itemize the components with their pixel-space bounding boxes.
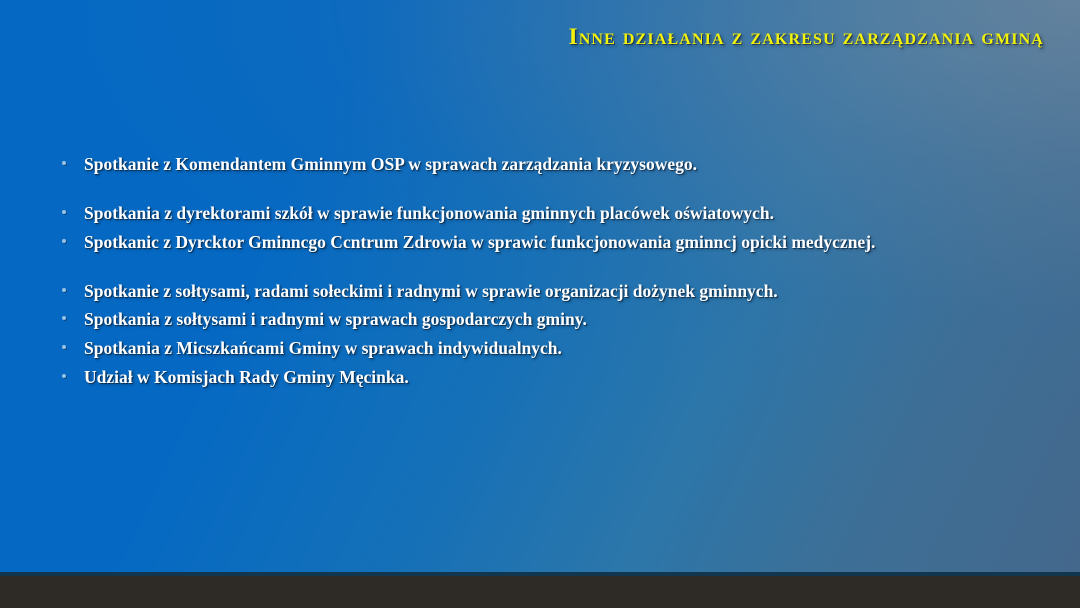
list-item: Spotkania z Micszkańcami Gminy w sprawac… (58, 336, 1018, 361)
bullet-marker-icon (62, 288, 66, 292)
bullet-group-2: Spotkania z dyrektorami szkół w sprawie … (58, 201, 1018, 255)
list-item-text: Spotkania z Micszkańcami Gminy w sprawac… (84, 338, 562, 358)
list-item-text: Spotkanic z Dyrcktor Gminncgo Ccntrum Zd… (84, 232, 875, 252)
list-item: Spotkanic z Dyrcktor Gminncgo Ccntrum Zd… (58, 230, 1018, 255)
bullet-marker-icon (62, 316, 66, 320)
bullet-group-1: Spotkanie z Komendantem Gminnym OSP w sp… (58, 152, 1018, 177)
list-item-text: Spotkanie z sołtysami, radami sołeckimi … (84, 281, 778, 301)
list-item: Spotkania z dyrektorami szkół w sprawie … (58, 201, 1018, 226)
presentation-slide: Inne działania z zakresu zarządzania gmi… (0, 0, 1080, 608)
list-item: Spotkania z sołtysami i radnymi w sprawa… (58, 307, 1018, 332)
list-item-text: Spotkania z dyrektorami szkół w sprawie … (84, 203, 774, 223)
slide-canvas: Inne działania z zakresu zarządzania gmi… (0, 0, 1080, 575)
list-item-text: Spotkania z sołtysami i radnymi w sprawa… (84, 309, 587, 329)
bullet-marker-icon (62, 239, 66, 243)
bullet-group-3: Spotkanie z sołtysami, radami sołeckimi … (58, 279, 1018, 390)
viewer-bottom-bar (0, 576, 1080, 608)
bullet-marker-icon (62, 345, 66, 349)
list-item: Spotkanie z sołtysami, radami sołeckimi … (58, 279, 1018, 304)
slide-title-block: Inne działania z zakresu zarządzania gmi… (0, 24, 1044, 50)
bullet-marker-icon (62, 210, 66, 214)
list-item-text: Udział w Komisjach Rady Gminy Męcinka. (84, 367, 409, 387)
list-item: Udział w Komisjach Rady Gminy Męcinka. (58, 365, 1018, 390)
slide-body-content: Spotkanie z Komendantem Gminnym OSP w sp… (58, 152, 1018, 390)
list-item: Spotkanie z Komendantem Gminnym OSP w sp… (58, 152, 1018, 177)
bullet-marker-icon (62, 374, 66, 378)
bullet-marker-icon (62, 161, 66, 165)
page-title: Inne działania z zakresu zarządzania gmi… (569, 24, 1044, 50)
list-item-text: Spotkanie z Komendantem Gminnym OSP w sp… (84, 154, 697, 174)
